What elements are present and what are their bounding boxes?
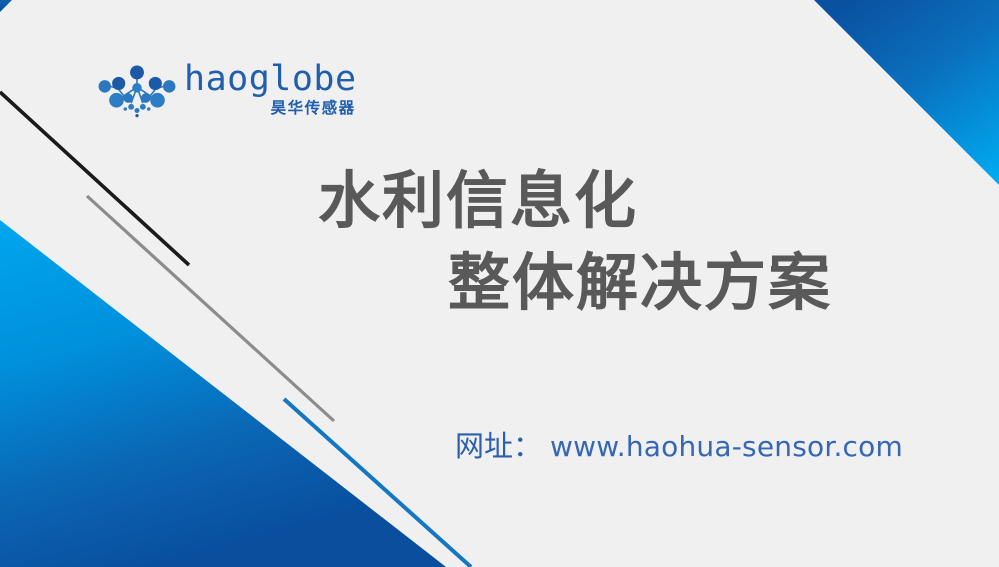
top-right-blue-triangle bbox=[814, 0, 999, 185]
presentation-slide: haoglobe 昊华传感器 水利信息化 整体解决方案 网址： www.haoh… bbox=[0, 0, 999, 567]
top-left-blue-sliver bbox=[0, 0, 12, 12]
slide-title: 水利信息化 整体解决方案 bbox=[0, 160, 999, 324]
haoglobe-network-logo-icon bbox=[96, 62, 178, 118]
website-line: 网址： www.haohua-sensor.com bbox=[455, 423, 903, 465]
title-line-2: 整体解决方案 bbox=[0, 242, 999, 324]
logo-subtitle: 昊华传感器 bbox=[271, 101, 356, 117]
company-logo: haoglobe 昊华传感器 bbox=[96, 56, 326, 124]
title-line-1: 水利信息化 bbox=[0, 160, 999, 242]
website-label: 网址： bbox=[455, 423, 542, 465]
logo-text-group: haoglobe 昊华传感器 bbox=[184, 63, 357, 117]
logo-wordmark: haoglobe bbox=[184, 63, 357, 96]
website-url[interactable]: www.haohua-sensor.com bbox=[550, 430, 903, 463]
